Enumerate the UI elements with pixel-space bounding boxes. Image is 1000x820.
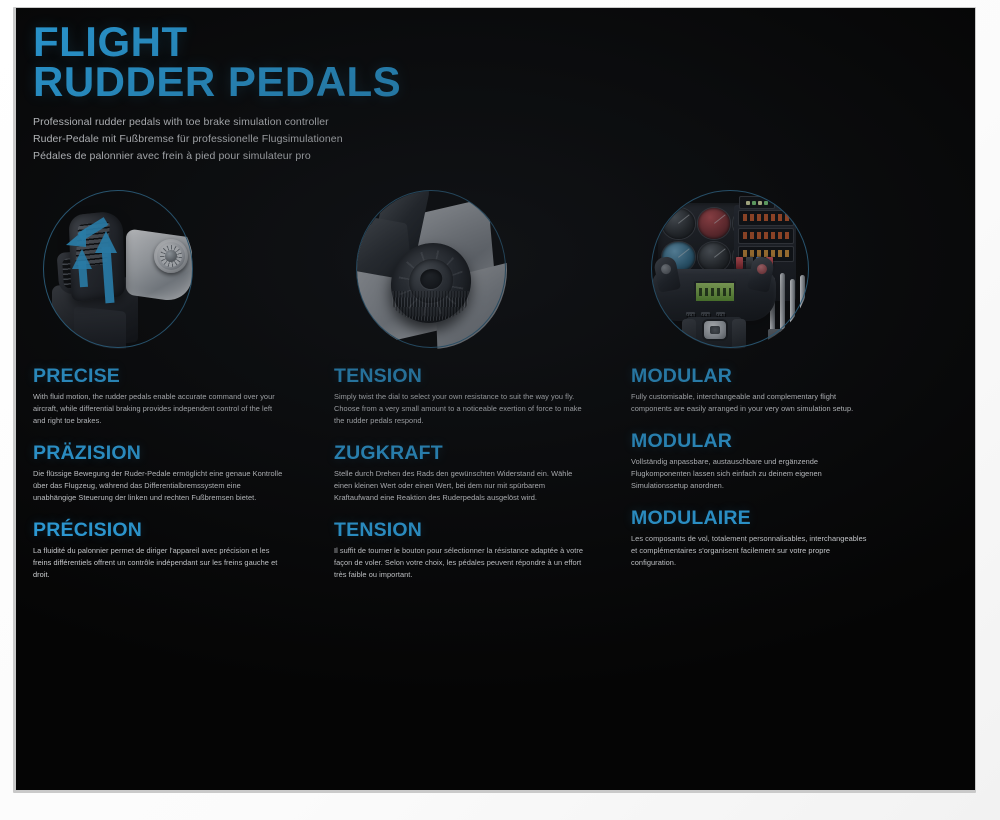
subtitle-en: Professional rudder pedals with toe brak…	[33, 114, 673, 131]
feature-heading-en: PRECISE	[33, 366, 315, 387]
subtitle-fr: Pédales de palonnier avec frein à pied p…	[33, 148, 673, 165]
feature-block-en: TENSION Simply twist the dial to select …	[334, 366, 616, 427]
photo-circle-outline	[651, 190, 809, 348]
feature-heading-de: PRÄZISION	[33, 443, 315, 464]
subtitle-group: Professional rudder pedals with toe brak…	[33, 114, 673, 165]
feature-heading-fr: MODULAIRE	[631, 508, 913, 529]
feature-heading-de: ZUGKRAFT	[334, 443, 616, 464]
feature-body-en: Fully customisable, interchangeable and …	[631, 391, 869, 415]
photo-circle-outline	[43, 190, 193, 348]
feature-body-fr: Les composants de vol, totalement person…	[631, 533, 869, 569]
feature-block-de: MODULAR Vollständig anpassbare, austausc…	[631, 431, 913, 492]
modular-cockpit-setup-photo	[651, 190, 811, 350]
feature-block-de: ZUGKRAFT Stelle durch Drehen des Rads de…	[334, 443, 616, 504]
feature-body-en: Simply twist the dial to select your own…	[334, 391, 586, 427]
feature-block-fr: MODULAIRE Les composants de vol, totalem…	[631, 508, 913, 569]
feature-body-de: Stelle durch Drehen des Rads den gewünsc…	[334, 468, 586, 504]
feature-block-en: PRECISE With fluid motion, the rudder pe…	[33, 366, 315, 427]
page-title-line-2: RUDDER PEDALS	[33, 62, 673, 102]
feature-body-de: Die flüssige Bewegung der Ruder-Pedale e…	[33, 468, 285, 504]
photo-circle-outline	[356, 190, 506, 348]
hero-section: FLIGHT RUDDER PEDALS Professional rudder…	[33, 22, 673, 165]
feature-column-tension: TENSION Simply twist the dial to select …	[334, 190, 616, 581]
tension-dial-photo	[356, 190, 508, 350]
feature-block-en: MODULAR Fully customisable, interchangea…	[631, 366, 913, 415]
page-title: FLIGHT RUDDER PEDALS	[33, 22, 673, 102]
feature-heading-fr: PRÉCISION	[33, 520, 315, 541]
rudder-pedal-motion-photo	[43, 190, 195, 350]
black-content-board: FLIGHT RUDDER PEDALS Professional rudder…	[16, 8, 975, 790]
feature-block-de: PRÄZISION Die flüssige Bewegung der Rude…	[33, 443, 315, 504]
feature-block-fr: PRÉCISION La fluidité du palonnier perme…	[33, 520, 315, 581]
feature-heading-fr: TENSION	[334, 520, 616, 541]
subtitle-de: Ruder-Pedale mit Fußbremse für professio…	[33, 131, 673, 148]
feature-column-modular: MODULAR Fully customisable, interchangea…	[631, 190, 913, 569]
feature-heading-en: MODULAR	[631, 366, 913, 387]
feature-body-en: With fluid motion, the rudder pedals ena…	[33, 391, 285, 427]
feature-column-precise: PRECISE With fluid motion, the rudder pe…	[33, 190, 315, 581]
feature-heading-de: MODULAR	[631, 431, 913, 452]
feature-body-fr: Il suffit de tourner le bouton pour séle…	[334, 545, 586, 581]
feature-body-fr: La fluidité du palonnier permet de dirig…	[33, 545, 285, 581]
feature-heading-en: TENSION	[334, 366, 616, 387]
feature-body-de: Vollständig anpassbare, austauschbare un…	[631, 456, 869, 492]
product-feature-page: FLIGHT RUDDER PEDALS Professional rudder…	[0, 0, 1000, 820]
feature-block-fr: TENSION Il suffit de tourner le bouton p…	[334, 520, 616, 581]
